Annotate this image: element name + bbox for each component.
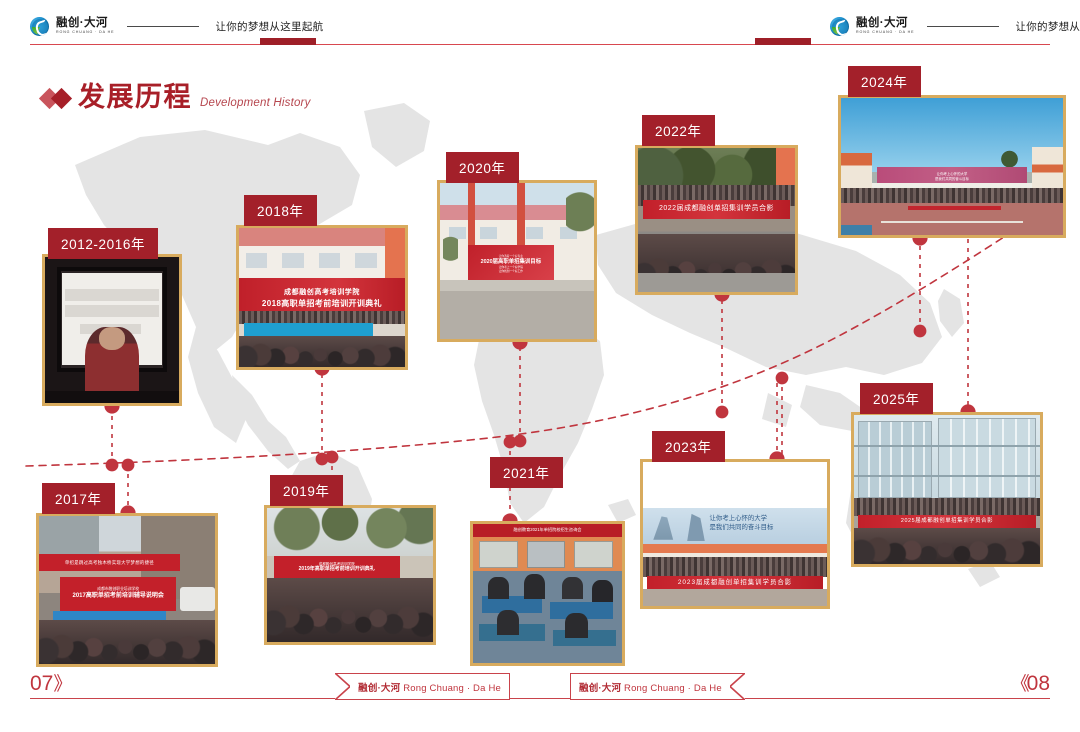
photo-caption-line: 是我们共同的奋斗目标 [935, 178, 969, 182]
diamond-ornament-icon [42, 91, 69, 106]
year-label: 2012-2016年 [48, 228, 158, 259]
brand-slogan: 让你的梦想从这里起航 [1015, 19, 1080, 34]
year-label: 2024年 [848, 66, 921, 97]
photo-caption-line: 融创教育2021年单招院校招生咨询会 [514, 528, 582, 533]
footer-tag-en: Rong Chuang · Da He [624, 683, 722, 694]
photo-caption-line: 2023届成都融创单招集训学员合影 [678, 579, 792, 586]
photo-caption-line: 2022届成都融创单招集训学员合影 [659, 205, 774, 213]
footer-tag-right: 融创·大河 Rong Chuang · Da He [570, 673, 745, 700]
photo-caption-line: 2018高职单招考前培训开训典礼 [262, 299, 382, 308]
year-label: 2025年 [860, 383, 933, 414]
brand-name-cn: 融创·大河 [856, 18, 914, 30]
footer-tag-cn: 融创·大河 [358, 683, 400, 694]
page-number-right: 《 08 [1011, 669, 1050, 696]
photo-caption-line: 2019年高职单招考前培训开训典礼 [299, 567, 375, 573]
timeline-photo[interactable]: 2022届成都融创单招集训学员合影 [635, 145, 798, 295]
footer-tag-cn: 融创·大河 [579, 683, 621, 694]
header-accent-tab [260, 38, 316, 45]
footer-right: 《 08 融创·大河 Rong Chuang · Da He [540, 675, 1080, 732]
timeline-photo[interactable]: 单招是跳过高考独木桥实现大学梦想的捷径 成都市融创职业培训学校 2017高职单招… [36, 513, 218, 667]
timeline-photo[interactable]: 成都融创高考培训学院 2018高职单招考前培训开训典礼 [236, 225, 408, 370]
footer-tag-text: 融创·大河 Rong Chuang · Da He [571, 680, 730, 694]
year-label: 2018年 [244, 195, 317, 226]
timeline-photo[interactable]: 融创教育2021年单招院校招生咨询会 [470, 521, 625, 666]
company-logo-icon [30, 17, 49, 36]
year-label: 2022年 [642, 115, 715, 146]
brochure-spread: 融创·大河 RONG CHUANG · DA HE 让你的梦想从这里起航 融创·… [0, 0, 1080, 732]
photo-caption-line: 成都市融创职业培训学校 [97, 587, 139, 591]
page-number-value: 08 [1027, 672, 1050, 696]
timeline-photo[interactable]: 2025届成都融创单招集训学员合影 [851, 412, 1043, 567]
brand-lockup-right: 融创·大河 RONG CHUANG · DA HE 让你的梦想从这里起航 [830, 17, 1080, 36]
arrow-left-icon [730, 673, 745, 700]
page-number-value: 07 [30, 672, 53, 696]
header-accent-tab [755, 38, 811, 45]
header-left: 融创·大河 RONG CHUANG · DA HE 让你的梦想从这里起航 [0, 0, 540, 56]
brand-lockup-left: 融创·大河 RONG CHUANG · DA HE 让你的梦想从这里起航 [30, 17, 323, 36]
chevron-right-icon: 》 [53, 669, 69, 696]
company-logo-icon [830, 17, 849, 36]
timeline-photo[interactable] [42, 254, 182, 406]
photo-caption-line: 让你考上心怀的大学 [710, 514, 813, 524]
footer-tag-text: 融创·大河 Rong Chuang · Da He [350, 680, 509, 694]
section-title-cn: 发展历程 [78, 84, 192, 111]
footer-tag-left: 融创·大河 Rong Chuang · Da He [335, 673, 510, 700]
footer-tag-en: Rong Chuang · Da He [403, 683, 501, 694]
year-label: 2020年 [446, 152, 519, 183]
brand-name-cn: 融创·大河 [56, 18, 114, 30]
timeline-photo[interactable]: 让你考上心怀的大学 是我们共同的奋斗目标 2023届成都融创单招集训学员合影 [640, 459, 830, 609]
page-title: 发展历程 Development History [42, 84, 311, 111]
photo-banner-text: 单招是跳过高考独木桥实现大学梦想的捷径 [65, 560, 154, 565]
photo-caption-line: 2017高职单招考前培训辅导说明会 [73, 593, 164, 600]
brand-name-en: RONG CHUANG · DA HE [56, 31, 114, 35]
photo-caption-line: 让你选着一个好专业 [499, 255, 523, 258]
arrow-right-icon [335, 673, 350, 700]
page-number-left: 07 》 [30, 669, 69, 696]
footer-left: 07 》 融创·大河 Rong Chuang · Da He [0, 675, 540, 732]
header-right: 融创·大河 RONG CHUANG · DA HE 让你的梦想从这里起航 [540, 0, 1080, 56]
photo-caption-line: 2020届高职单招集训目标 [481, 259, 542, 265]
photo-caption-line: 成都融创高考培训学院 [284, 289, 360, 297]
timeline-photo[interactable]: 让你选着一个好专业 2020届高职单招集训目标 让你考上一个好学院 让你找到一个… [437, 180, 597, 342]
timeline-photo[interactable]: 成都融创高考培训学院 2019年高职单招考前培训开训典礼 [264, 505, 436, 645]
year-label: 2019年 [270, 475, 343, 506]
brand-name-en: RONG CHUANG · DA HE [856, 31, 914, 35]
brand-slogan: 让你的梦想从这里起航 [215, 19, 323, 34]
photo-caption-line: 是我们共同的奋斗目标 [710, 523, 813, 533]
photo-caption-line: 2025届成都融创单招集训学员合影 [901, 518, 993, 524]
section-title-en: Development History [200, 97, 311, 109]
chevron-left-icon: 《 [1011, 669, 1027, 696]
year-label: 2017年 [42, 483, 115, 514]
photo-caption-line: 让你找到一个好工作 [499, 270, 523, 273]
header-divider-line [927, 26, 999, 27]
photo-caption-line: 让你考上一个好学院 [499, 266, 523, 269]
year-label: 2021年 [490, 457, 563, 488]
header-divider-line [127, 26, 199, 27]
timeline-photo[interactable]: 让你考上心怀的大学 是我们共同的奋斗目标 [838, 95, 1066, 238]
year-label: 2023年 [652, 431, 725, 462]
